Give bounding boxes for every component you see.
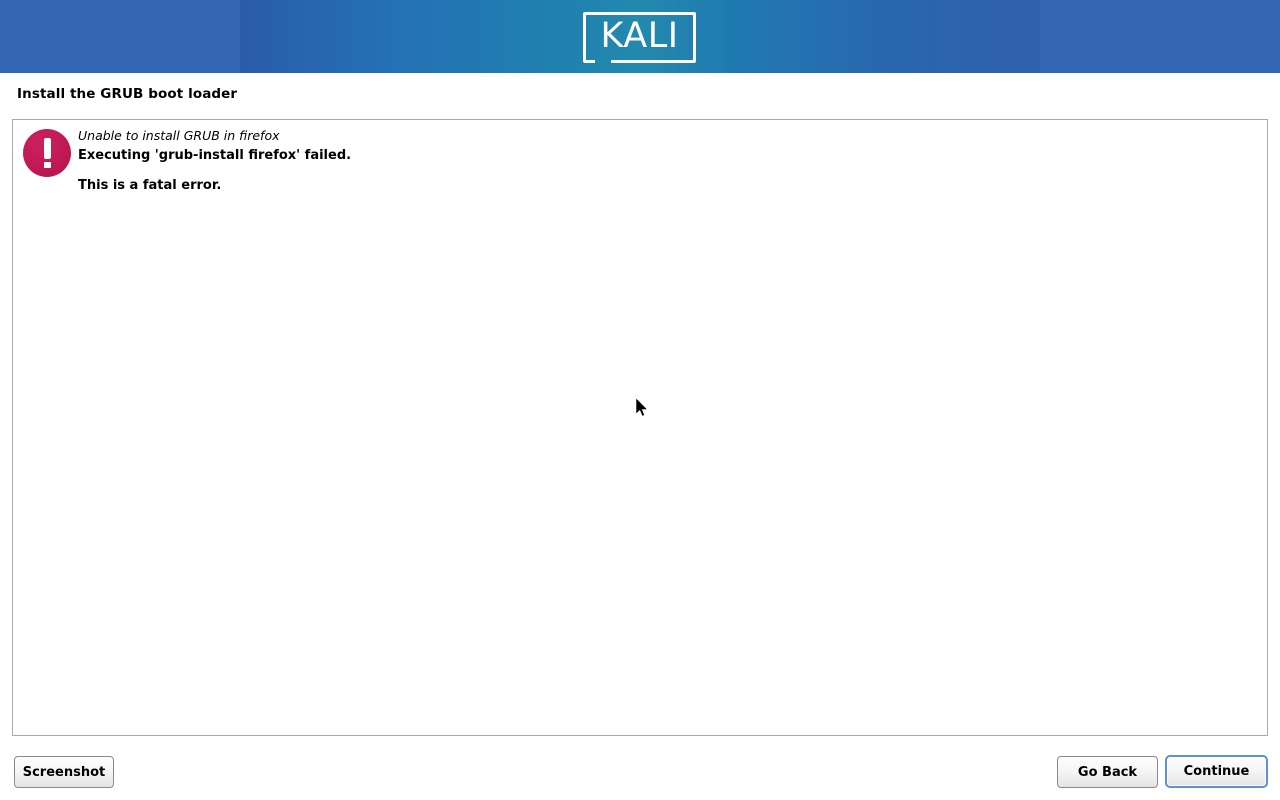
error-text-block: Unable to install GRUB in firefox Execut… (78, 127, 1255, 196)
header-banner: KALI (0, 0, 1280, 73)
continue-button[interactable]: Continue (1165, 755, 1268, 788)
error-message: Executing 'grub-install firefox' failed. (78, 146, 1255, 166)
error-exclamation-icon (23, 129, 71, 177)
exclamation-bar (44, 138, 51, 159)
installer-screen: KALI Install the GRUB boot loader Unable… (0, 0, 1280, 800)
error-subtitle: Unable to install GRUB in firefox (78, 127, 1255, 144)
exclamation-dot (44, 162, 51, 168)
screenshot-button[interactable]: Screenshot (14, 756, 114, 788)
logo-text: KALI (583, 12, 696, 63)
page-title: Install the GRUB boot loader (17, 86, 237, 102)
kali-linux-logo: KALI (583, 12, 696, 63)
go-back-button[interactable]: Go Back (1057, 756, 1158, 788)
content-panel: Unable to install GRUB in firefox Execut… (12, 119, 1268, 736)
error-detail: This is a fatal error. (78, 176, 1255, 196)
